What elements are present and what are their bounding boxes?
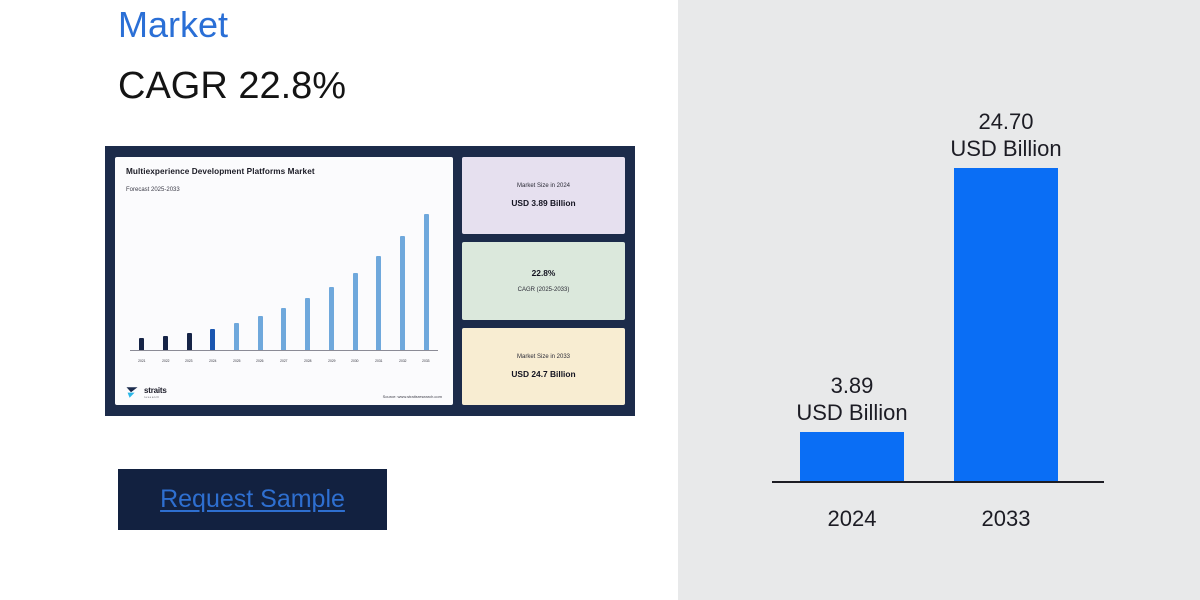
logo-subtitle: research <box>144 396 167 399</box>
mini-bar-column <box>414 201 438 350</box>
mini-x-tick-2025: 2025 <box>226 359 248 363</box>
mini-bar-2023 <box>187 333 192 350</box>
mini-bar-2021 <box>139 338 144 350</box>
bar-value-number: 3.89 <box>796 372 907 399</box>
stat-card-1: 22.8%CAGR (2025-2033) <box>462 242 625 319</box>
stat-card-value: 22.8% <box>532 268 556 278</box>
stat-card-value: USD 3.89 Billion <box>511 198 575 208</box>
stat-card-label: Market Size in 2033 <box>517 354 570 360</box>
mini-x-tick-2021: 2021 <box>131 359 153 363</box>
cagr-headline: CAGR 22.8% <box>118 63 346 109</box>
mini-bar-2022 <box>163 336 168 350</box>
mini-bar-2026 <box>258 316 263 350</box>
bar-group-2024: 3.89USD Billion <box>776 372 928 481</box>
mini-bar-plot <box>130 201 438 351</box>
mini-bar-column <box>320 201 344 350</box>
mini-bar-column <box>177 201 201 350</box>
stat-card-label: Market Size in 2024 <box>517 183 570 189</box>
mini-x-tick-2031: 2031 <box>368 359 390 363</box>
stat-card-0: Market Size in 2024USD 3.89 Billion <box>462 157 625 234</box>
mini-bar-column <box>391 201 415 350</box>
mini-bar-2032 <box>400 236 405 350</box>
bar-2024 <box>800 432 904 481</box>
mini-x-tick-2026: 2026 <box>249 359 271 363</box>
mini-bar-column <box>296 201 320 350</box>
infographic-title: Multiexperience Development Platforms Ma… <box>126 167 442 176</box>
mini-bar-2027 <box>281 308 286 350</box>
bar-2033 <box>954 168 1058 481</box>
mini-x-tick-2030: 2030 <box>344 359 366 363</box>
infographic-subtitle: Forecast 2025-2033 <box>126 187 442 193</box>
mini-bar-2028 <box>305 298 310 350</box>
infographic-footer: straits research Source: www.straitsrese… <box>126 373 442 399</box>
mini-bar-2033 <box>424 214 429 350</box>
mini-bar-column <box>154 201 178 350</box>
stat-card-label: CAGR (2025-2033) <box>518 287 570 293</box>
infographic-chart-card: Multiexperience Development Platforms Ma… <box>115 157 453 405</box>
x-tick-2024: 2024 <box>776 506 928 532</box>
bar-value-label-2024: 3.89USD Billion <box>796 372 907 426</box>
infographic-page: Multiexperience Development Platforms Ma… <box>0 0 1200 600</box>
logo-name: straits <box>144 387 167 395</box>
straits-research-logo: straits research <box>126 386 167 399</box>
mini-x-tick-2028: 2028 <box>297 359 319 363</box>
request-sample-button[interactable]: Request Sample <box>118 469 387 530</box>
mini-bar-column <box>272 201 296 350</box>
source-attribution: Source: www.straitsresearch.com <box>383 394 442 399</box>
stat-card-value: USD 24.7 Billion <box>511 369 575 379</box>
mini-bar-column <box>225 201 249 350</box>
mini-x-tick-2033: 2033 <box>415 359 437 363</box>
mini-x-tick-2027: 2027 <box>273 359 295 363</box>
mini-bar-axis: 2021202220232024202520262027202820292030… <box>130 359 438 363</box>
stat-card-2: Market Size in 2033USD 24.7 Billion <box>462 328 625 405</box>
chart-baseline <box>772 481 1104 483</box>
request-sample-label[interactable]: Request Sample <box>160 485 345 514</box>
bar-value-unit: USD Billion <box>950 135 1061 162</box>
mini-x-tick-2022: 2022 <box>155 359 177 363</box>
mini-x-tick-2023: 2023 <box>178 359 200 363</box>
mini-bar-column <box>248 201 272 350</box>
mini-bar-2025 <box>234 323 239 350</box>
bar-value-label-2033: 24.70USD Billion <box>950 108 1061 162</box>
market-infographic: Multiexperience Development Platforms Ma… <box>105 146 635 416</box>
right-panel: 3.89USD Billion 24.70USD Billion 2024 20… <box>678 0 1200 600</box>
logo-text-wrap: straits research <box>144 387 167 399</box>
mini-bar-column <box>201 201 225 350</box>
mini-x-tick-2029: 2029 <box>320 359 342 363</box>
straits-logo-icon <box>126 386 142 399</box>
left-panel: Multiexperience Development Platforms Ma… <box>0 0 678 600</box>
mini-bar-2029 <box>329 287 334 350</box>
mini-bar-column <box>367 201 391 350</box>
mini-bar-chart: 2021202220232024202520262027202820292030… <box>126 199 442 373</box>
mini-bar-2024 <box>210 329 215 350</box>
page-title-line-market: Market <box>118 2 658 48</box>
bar-group-2033: 24.70USD Billion <box>930 108 1082 481</box>
mini-bar-column <box>130 201 154 350</box>
page-title: Multiexperience Development Platforms Ma… <box>118 0 658 48</box>
mini-bar-2031 <box>376 256 381 350</box>
mini-bar-column <box>343 201 367 350</box>
mini-x-tick-2032: 2032 <box>392 359 414 363</box>
mini-bar-2030 <box>353 273 358 350</box>
market-size-bar-chart: 3.89USD Billion 24.70USD Billion 2024 20… <box>678 0 1200 600</box>
bar-value-unit: USD Billion <box>796 399 907 426</box>
x-tick-2033: 2033 <box>930 506 1082 532</box>
mini-x-tick-2024: 2024 <box>202 359 224 363</box>
stat-card-column: Market Size in 2024USD 3.89 Billion22.8%… <box>462 157 625 405</box>
bar-value-number: 24.70 <box>950 108 1061 135</box>
